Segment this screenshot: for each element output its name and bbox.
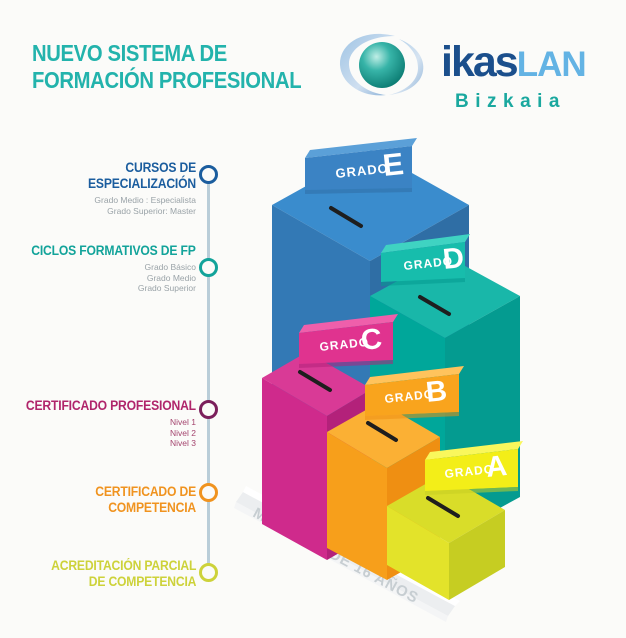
plaque-b-edge — [365, 366, 464, 385]
plaque-e-word: GRADO — [335, 160, 390, 180]
block-e-slot — [331, 208, 361, 226]
logo-wordmark: ikasLAN — [441, 40, 586, 87]
plaque-c-side — [299, 360, 393, 368]
block-grado-d — [370, 255, 520, 538]
row-label-certificado-competencia-title: CERTIFICADO DE COMPETENCIA — [20, 484, 196, 516]
infographic-root: NUEVO SISTEMA DE FORMACIÓN PROFESIONAL i… — [0, 0, 626, 638]
plaque-d-edge — [381, 234, 470, 253]
plaque-grado-c: GRADO C — [299, 314, 398, 368]
row-label-cursos-especializacion[interactable]: CURSOS DE ESPECIALIZACIÓN Grado Medio : … — [0, 160, 196, 216]
plaque-b-word: GRADO — [384, 387, 435, 406]
plaque-b-side — [365, 412, 459, 420]
plaque-c-letter: C — [359, 323, 383, 357]
block-a-right — [449, 510, 505, 600]
block-grado-e — [272, 150, 469, 500]
plaque-a-letter: A — [484, 450, 508, 484]
block-b-right — [387, 437, 440, 580]
plaque-a-face — [425, 449, 518, 491]
plaque-c-face — [299, 322, 393, 364]
timeline-dot-certificado-profesional[interactable] — [199, 400, 218, 419]
plaque-grado-e: GRADO E — [305, 138, 417, 194]
page-title: NUEVO SISTEMA DE FORMACIÓN PROFESIONAL — [32, 40, 301, 94]
plaque-a-edge — [425, 441, 523, 460]
ikaslan-logo: ikasLAN Bizkaia — [337, 28, 607, 120]
block-c-front — [262, 378, 327, 560]
row-label-certificado-competencia[interactable]: CERTIFICADO DE COMPETENCIA — [0, 484, 196, 516]
plaque-e-edge — [305, 138, 417, 158]
plaque-grado-a: GRADO A — [425, 441, 523, 495]
row-sublist-cursos-especializacion: Grado Medio : Especialista Grado Superio… — [0, 195, 196, 216]
row-sublist-certificado-profesional: Nivel 1 Nivel 2 Nivel 3 — [7, 417, 196, 449]
block-e-right — [370, 205, 469, 500]
plaque-e-face — [305, 146, 412, 190]
timeline-dot-acreditacion-parcial[interactable] — [199, 563, 218, 582]
plaque-grado-b: GRADO B — [365, 366, 464, 420]
plaque-d-face — [381, 242, 465, 282]
row-label-ciclos-formativos-fp[interactable]: CICLOS FORMATIVOS DE FP Grado Básico Gra… — [13, 243, 196, 294]
block-grado-b — [327, 402, 440, 580]
row-label-certificado-profesional-title: CERTIFICADO PROFESIONAL — [26, 398, 196, 414]
row-label-cursos-especializacion-title: CURSOS DE ESPECIALIZACIÓN — [20, 160, 196, 192]
block-grado-c — [262, 352, 372, 560]
plaque-b-face — [365, 374, 459, 416]
block-a-top — [387, 474, 505, 543]
plaque-c-word: GRADO — [319, 335, 370, 354]
block-grado-a — [387, 474, 505, 600]
block-d-right — [445, 296, 520, 538]
axis-label: MAYORES DE 16 AÑOS — [250, 504, 422, 607]
plaque-e-letter: E — [381, 146, 405, 183]
plaque-a-word: GRADO — [444, 462, 495, 481]
block-e-top — [272, 150, 469, 261]
plaque-grado-d: GRADO D — [381, 234, 470, 286]
block-c-slot — [300, 372, 330, 390]
block-c-right — [327, 389, 372, 560]
timeline-dot-cursos-especializacion[interactable] — [199, 165, 218, 184]
plaque-d-letter: D — [441, 242, 465, 276]
row-label-acreditacion-parcial[interactable]: ACREDITACIÓN PARCIAL DE COMPETENCIA — [35, 558, 196, 590]
plaque-a-side — [425, 487, 518, 495]
block-b-front — [327, 432, 387, 580]
timeline-axis — [207, 176, 210, 576]
plaque-b-letter: B — [424, 375, 448, 409]
timeline-dot-ciclos-formativos-fp[interactable] — [199, 258, 218, 277]
row-label-ciclos-formativos-fp-title: CICLOS FORMATIVOS DE FP — [32, 243, 196, 259]
plaque-d-side — [381, 278, 465, 286]
row-label-acreditacion-parcial-title: ACREDITACIÓN PARCIAL DE COMPETENCIA — [51, 558, 196, 590]
axis-band — [234, 486, 460, 622]
timeline-dot-certificado-competencia[interactable] — [199, 483, 218, 502]
logo-subtitle: Bizkaia — [455, 91, 566, 113]
logo-name-primary: ikas — [441, 38, 517, 86]
row-sublist-ciclos-formativos-fp: Grado Básico Grado Medio Grado Superior — [13, 262, 196, 294]
block-d-slot — [420, 297, 449, 314]
row-label-certificado-profesional[interactable]: CERTIFICADO PROFESIONAL Nivel 1 Nivel 2 … — [7, 398, 196, 449]
plaque-c-edge — [299, 314, 398, 333]
block-b-top — [327, 402, 440, 468]
block-b-slot — [368, 423, 396, 440]
logo-name-secondary: LAN — [517, 45, 586, 84]
logo-sphere-icon — [337, 30, 432, 100]
block-a-slot — [428, 498, 458, 516]
plaque-d-word: GRADO — [403, 254, 454, 273]
block-a-front — [387, 506, 449, 600]
plaque-e-side — [305, 188, 412, 194]
block-d-front — [370, 296, 445, 538]
block-e-front — [272, 205, 370, 500]
block-d-top — [370, 255, 520, 338]
block-c-top — [262, 352, 372, 416]
